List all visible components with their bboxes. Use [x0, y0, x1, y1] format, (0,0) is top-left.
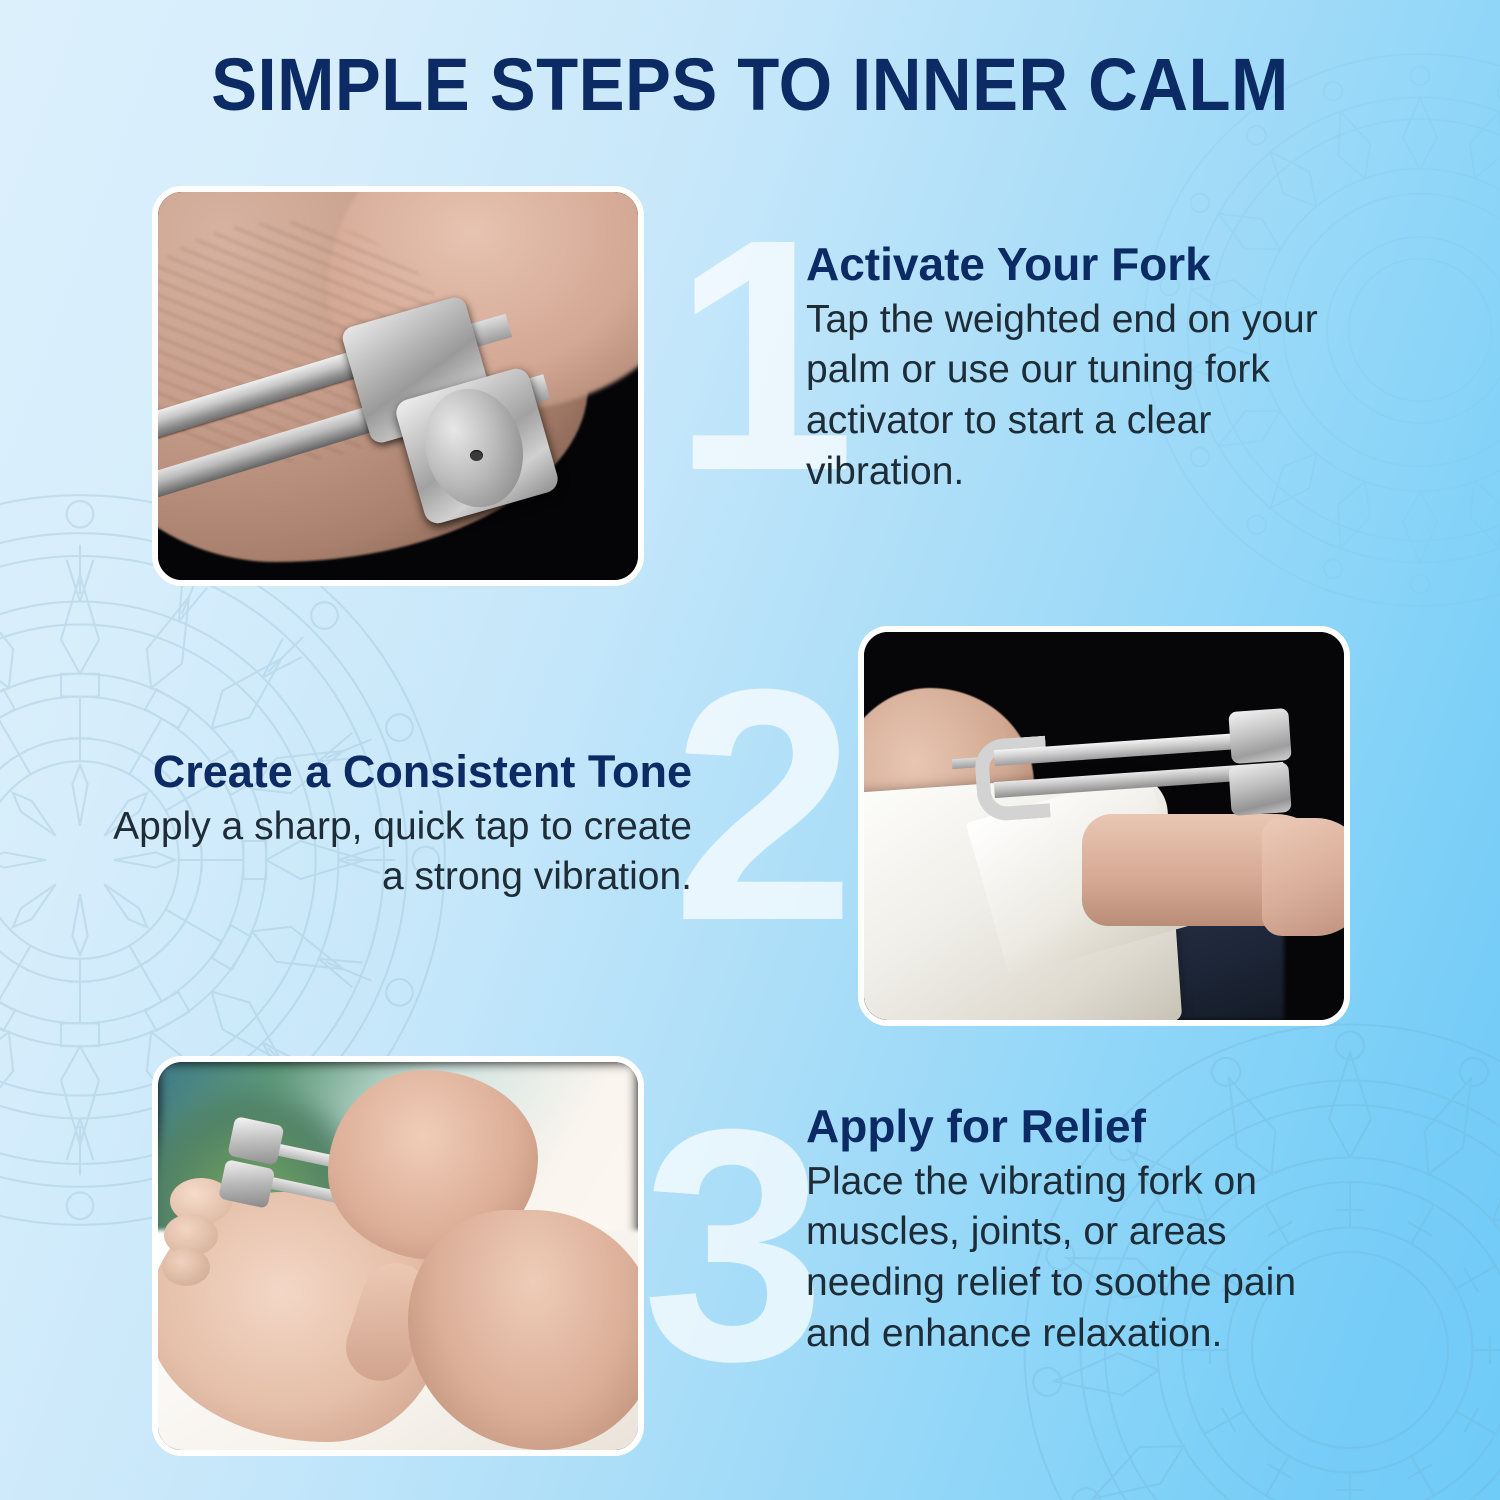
step-3-heading: Apply for Relief	[806, 1102, 1366, 1151]
step-2-body: Apply a sharp, quick tap to create a str…	[100, 802, 692, 903]
step-2-heading: Create a Consistent Tone	[100, 748, 692, 796]
step-3-numeral: 3	[642, 1116, 826, 1373]
fork-weight-upper	[1228, 708, 1291, 764]
fork-weight-hole	[470, 450, 483, 461]
step-1-text: Activate Your Fork Tap the weighted end …	[806, 240, 1366, 498]
step-1-heading: Activate Your Fork	[806, 240, 1366, 289]
page-title: SIMPLE STEPS TO INNER CALM	[53, 48, 1448, 122]
step-2-image	[858, 626, 1350, 1026]
step-2-numeral: 2	[672, 676, 856, 933]
step-3-text: Apply for Relief Place the vibrating for…	[806, 1102, 1366, 1360]
fingers-shape	[1262, 818, 1344, 936]
step-3-image	[152, 1056, 644, 1456]
step-3-body: Place the vibrating fork on muscles, joi…	[806, 1157, 1366, 1360]
step-1-image	[152, 186, 644, 586]
step-2-text: Create a Consistent Tone Apply a sharp, …	[100, 748, 692, 903]
step-1-body: Tap the weighted end on your palm or use…	[806, 295, 1366, 498]
infographic-poster: SIMPLE STEPS TO INNER CALM 1 Activate Yo…	[0, 0, 1500, 1500]
toe-shape-3	[162, 1248, 210, 1286]
fork-weight-lower	[1228, 762, 1291, 816]
